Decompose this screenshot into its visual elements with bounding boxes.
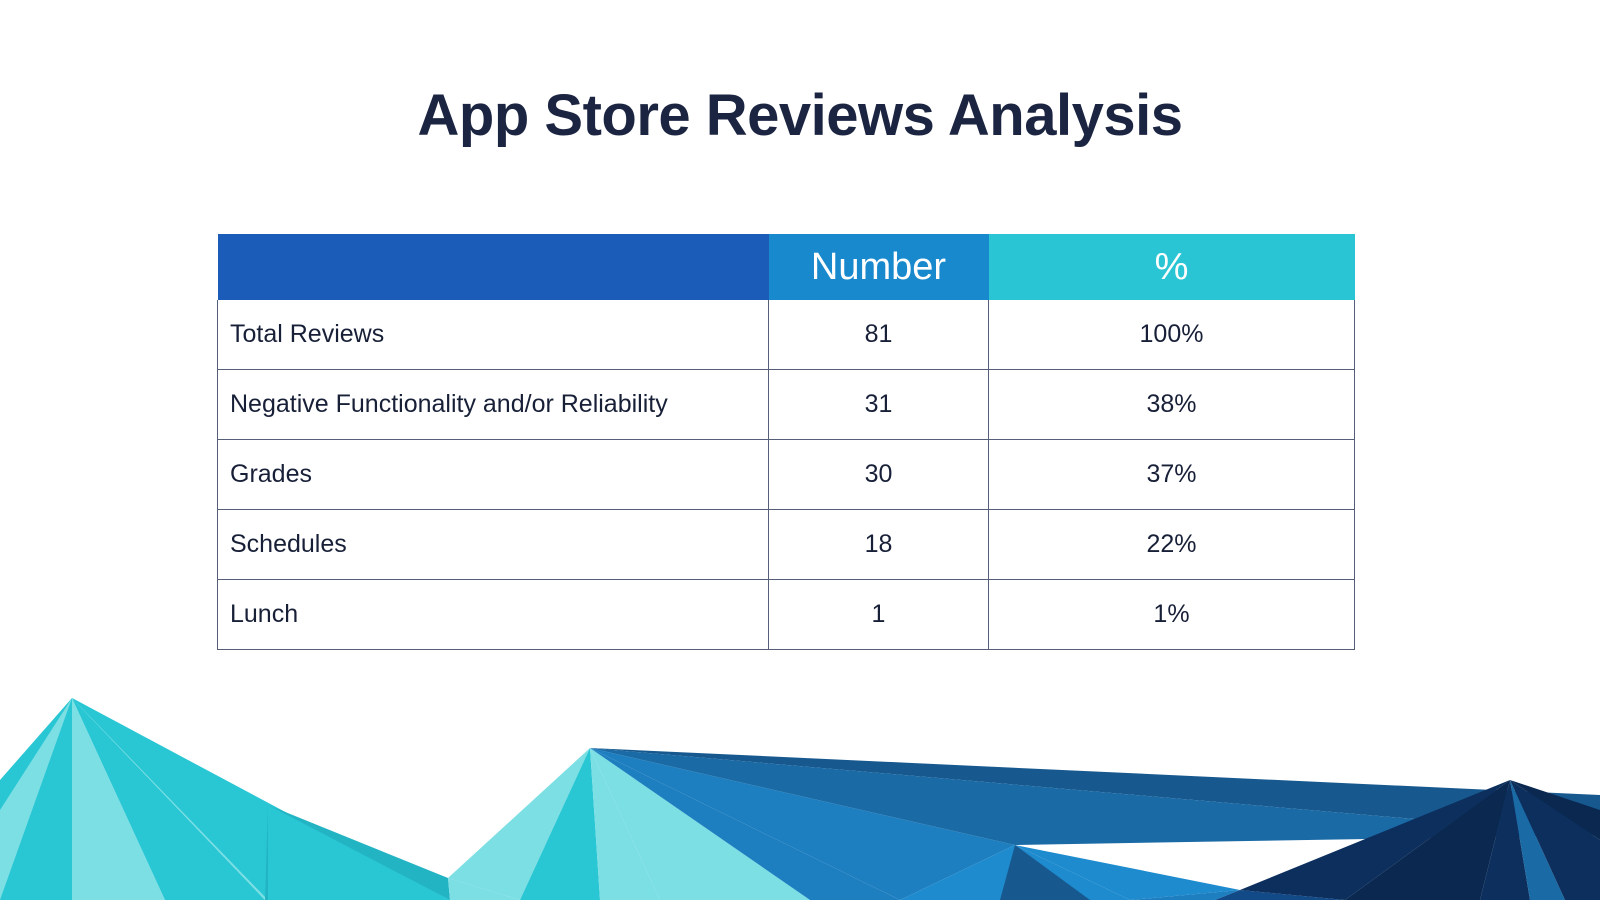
row-percent: 1% [989, 580, 1355, 650]
mountain-decoration-graphic [0, 690, 1600, 900]
row-number: 81 [769, 300, 989, 370]
table-header-row: Number % [218, 234, 1355, 300]
row-label: Total Reviews [218, 300, 769, 370]
row-percent: 100% [989, 300, 1355, 370]
row-percent: 37% [989, 440, 1355, 510]
table-row: Negative Functionality and/or Reliabilit… [218, 370, 1355, 440]
table-row: Grades 30 37% [218, 440, 1355, 510]
table-header-number: Number [769, 234, 989, 300]
row-number: 1 [769, 580, 989, 650]
row-number: 31 [769, 370, 989, 440]
row-label: Negative Functionality and/or Reliabilit… [218, 370, 769, 440]
row-number: 30 [769, 440, 989, 510]
table-row: Total Reviews 81 100% [218, 300, 1355, 370]
row-label: Schedules [218, 510, 769, 580]
table-header-percent: % [989, 234, 1355, 300]
row-percent: 22% [989, 510, 1355, 580]
table-row: Schedules 18 22% [218, 510, 1355, 580]
reviews-table: Number % Total Reviews 81 100% Negative … [217, 234, 1355, 650]
row-number: 18 [769, 510, 989, 580]
table-body: Total Reviews 81 100% Negative Functiona… [218, 300, 1355, 650]
table-row: Lunch 1 1% [218, 580, 1355, 650]
row-label: Lunch [218, 580, 769, 650]
table-header-label [218, 234, 769, 300]
row-label: Grades [218, 440, 769, 510]
table-header: Number % [218, 234, 1355, 300]
page-title: App Store Reviews Analysis [0, 86, 1600, 147]
row-percent: 38% [989, 370, 1355, 440]
slide-canvas: App Store Reviews Analysis Number % Tota… [0, 0, 1600, 900]
